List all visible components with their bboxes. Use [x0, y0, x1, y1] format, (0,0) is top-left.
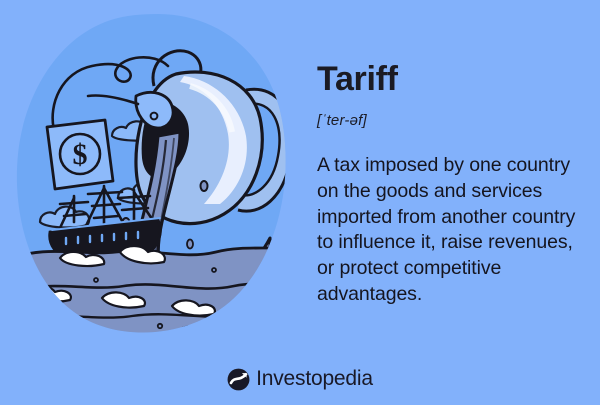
brand-name: Investopedia	[256, 367, 373, 391]
investopedia-swoosh-icon	[227, 368, 250, 391]
definition-text: A tax imposed by one country on the good…	[317, 153, 579, 309]
dollar-sign-icon: $	[73, 138, 88, 171]
definition-card: $	[0, 0, 600, 405]
page-title: Tariff	[317, 62, 579, 98]
definition-text-column: Tariff [ˈter-əf] A tax imposed by one co…	[317, 62, 579, 308]
pronunciation: [ˈter-əf]	[317, 112, 579, 129]
ocean-waves	[8, 244, 300, 348]
tariff-illustration: $	[8, 8, 300, 348]
brand-footer: Investopedia	[0, 367, 600, 391]
